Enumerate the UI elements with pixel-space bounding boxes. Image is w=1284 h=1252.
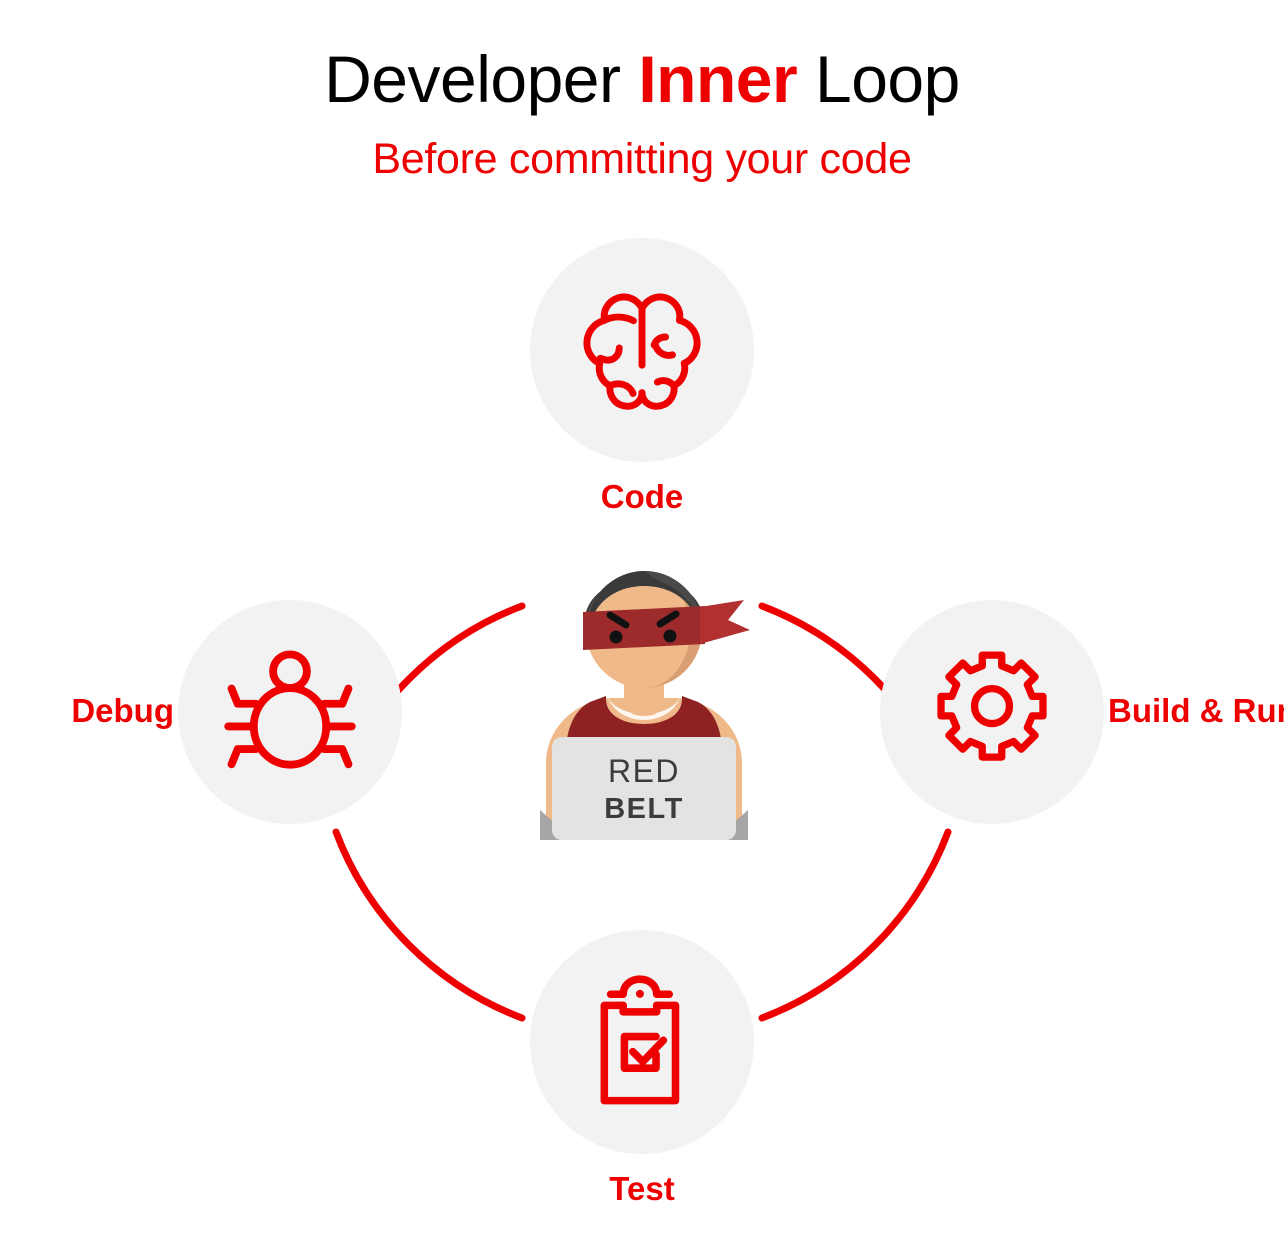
brain-icon — [577, 289, 707, 411]
ninja-developer-svg: RED BELT — [528, 552, 760, 840]
character-headband — [583, 606, 705, 650]
node-test[interactable]: Test — [530, 930, 754, 1154]
clipboard-check-icon — [583, 975, 701, 1109]
node-test-circle[interactable] — [530, 930, 754, 1154]
gear-icon — [927, 647, 1057, 777]
node-test-label: Test — [432, 1172, 852, 1205]
node-build-run-label: Build & Run — [1108, 694, 1284, 727]
ninja-developer-illustration: RED BELT — [528, 552, 760, 840]
ring-arc-build-to-test — [762, 832, 948, 1018]
laptop-text-line1: RED — [608, 753, 680, 789]
bug-icon — [220, 647, 360, 777]
character-headband-tail — [700, 600, 750, 644]
laptop-text-line2: BELT — [604, 793, 684, 825]
character-eye-left — [610, 631, 623, 644]
node-build-run[interactable]: Build & Run — [880, 600, 1104, 824]
node-debug[interactable]: Debug — [178, 600, 402, 824]
cycle-diagram: Code Build & Run — [0, 0, 1284, 1252]
node-code[interactable]: Code — [530, 238, 754, 462]
node-code-label: Code — [432, 480, 852, 513]
node-build-run-circle[interactable] — [880, 600, 1104, 824]
node-debug-circle[interactable] — [178, 600, 402, 824]
node-debug-label: Debug — [71, 694, 174, 727]
node-code-circle[interactable] — [530, 238, 754, 462]
character-eye-right — [664, 630, 677, 643]
ring-arc-test-to-debug — [336, 832, 522, 1018]
